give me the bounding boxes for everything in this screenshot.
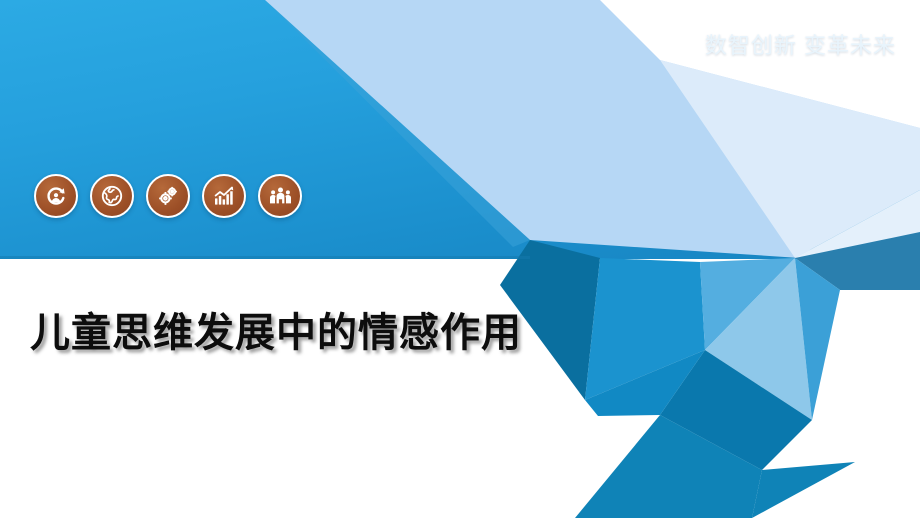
- bright-blue-center-facet: [585, 258, 705, 400]
- light-blue-notch: [795, 258, 840, 420]
- people-group-icon[interactable]: [258, 174, 302, 218]
- bar-chart-icon[interactable]: [202, 174, 246, 218]
- globe-icon[interactable]: [90, 174, 134, 218]
- slide-canvas: 数智创新 变革未来: [0, 0, 920, 518]
- tail-parallelogram-extension: [752, 462, 855, 518]
- slide-tagline: 数智创新 变革未来: [705, 28, 896, 60]
- tail-parallelogram: [575, 415, 762, 518]
- bright-blue-lower-left: [585, 350, 705, 416]
- pale-right-flank: [705, 258, 812, 420]
- icon-row: [34, 174, 302, 218]
- gears-icon[interactable]: [146, 174, 190, 218]
- deep-blue-body: [660, 350, 812, 470]
- mid-blue-right-facet: [700, 258, 795, 350]
- refresh-person-icon[interactable]: [34, 174, 78, 218]
- page-title: 儿童思维发展中的情感作用: [30, 300, 522, 358]
